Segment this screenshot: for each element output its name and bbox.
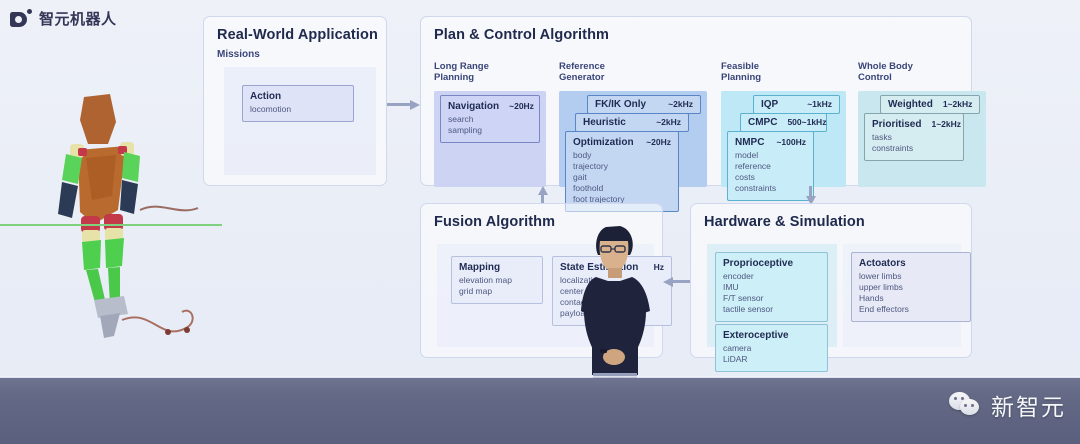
- box-heuristic: Heuristic ~2kHz: [575, 113, 689, 132]
- box-mapping-items: elevation map grid map: [459, 275, 535, 297]
- column-body-reference-generator: FK/IK Only ~2kHz Heuristic ~2kHz Optimiz…: [559, 91, 707, 187]
- list-item: foothold: [573, 183, 671, 194]
- robot-svg: [48, 92, 208, 342]
- panel-title-real-world: Real-World Application: [217, 27, 378, 43]
- list-item: Hands: [859, 293, 963, 304]
- hardware-sensors-container: Proprioceptive encoder IMU F/T sensor ta…: [707, 244, 837, 347]
- list-item: encoder: [723, 271, 820, 282]
- box-nmpc-name: NMPC: [735, 137, 764, 148]
- box-prioritised-name: Prioritised: [872, 119, 921, 130]
- box-navigation-items: search sampling: [448, 114, 532, 136]
- column-label-whole-body-control: Whole Body Control: [858, 61, 913, 83]
- box-action-name: Action: [250, 91, 281, 102]
- label-line-2: Planning: [434, 72, 489, 83]
- box-actuators: Actoators lower limbs upper limbs Hands …: [851, 252, 971, 322]
- box-proprioceptive-items: encoder IMU F/T sensor tactile sensor: [723, 271, 820, 315]
- list-item: gait: [573, 172, 671, 183]
- column-body-feasible-planning: IQP ~1kHz CMPC 500~1kHz NMPC ~100H: [721, 91, 846, 187]
- list-item: tactile sensor: [723, 304, 820, 315]
- box-prioritised-freq: 1~2kHz: [931, 119, 961, 129]
- brand-name: 智元机器人: [39, 8, 117, 29]
- box-proprioceptive-name: Proprioceptive: [723, 258, 793, 269]
- arrow-hardware-to-fusion-icon: [663, 277, 691, 287]
- column-body-whole-body-control: Weighted 1~2kHz Prioritised 1~2kHz tasks…: [858, 91, 986, 187]
- label-line-2: Generator: [559, 72, 605, 83]
- list-item: search: [448, 114, 532, 125]
- box-iqp-name: IQP: [761, 99, 778, 110]
- box-exteroceptive-name: Exteroceptive: [723, 330, 789, 341]
- list-item: constraints: [735, 183, 806, 194]
- stack-whole-body-control: Weighted 1~2kHz Prioritised 1~2kHz tasks…: [864, 95, 980, 165]
- box-nmpc: NMPC ~100Hz model reference costs constr…: [727, 131, 814, 201]
- list-item: trajectory: [573, 161, 671, 172]
- arrow-real-world-to-plan-icon: [387, 100, 420, 109]
- list-item: End effectors: [859, 304, 963, 315]
- box-mapping-name: Mapping: [459, 262, 500, 273]
- box-navigation: Navigation ~20Hz search sampling: [440, 95, 540, 143]
- box-fk-ik-only-name: FK/IK Only: [595, 99, 646, 110]
- label-line-1: Feasible: [721, 61, 761, 72]
- box-cmpc-name: CMPC: [748, 117, 777, 128]
- box-fk-ik-only-freq: ~2kHz: [668, 99, 693, 109]
- presentation-stage: 智元机器人 Real-World Application Missions Ac…: [0, 0, 1080, 444]
- box-action-items: locomotion: [250, 104, 346, 115]
- stack-reference-generator: FK/IK Only ~2kHz Heuristic ~2kHz Optimiz…: [565, 95, 701, 183]
- box-iqp: IQP ~1kHz: [753, 95, 840, 114]
- box-optimization-name: Optimization: [573, 137, 634, 148]
- list-item: reference: [735, 161, 806, 172]
- list-item: grid map: [459, 286, 535, 297]
- panel-plan-control-algorithm: Plan & Control Algorithm Long Range Plan…: [420, 16, 972, 186]
- box-nmpc-items: model reference costs constraints: [735, 150, 806, 194]
- arrow-fusion-to-plan-icon: [538, 186, 547, 204]
- box-prioritised-items: tasks constraints: [872, 132, 956, 154]
- list-item: IMU: [723, 282, 820, 293]
- hardware-actuators-container: Actoators lower limbs upper limbs Hands …: [843, 244, 961, 347]
- watermark-text: 新智元: [991, 388, 1066, 422]
- list-item: constraints: [872, 143, 956, 154]
- box-navigation-name: Navigation: [448, 101, 499, 112]
- box-exteroceptive: Exteroceptive camera LiDAR: [715, 324, 828, 372]
- arrow-plan-to-hardware-icon: [806, 186, 815, 204]
- label-line-1: Long Range: [434, 61, 489, 72]
- panel-title-hardware: Hardware & Simulation: [704, 214, 865, 230]
- panel-hardware-simulation: Hardware & Simulation Proprioceptive enc…: [690, 203, 972, 358]
- box-navigation-freq: ~20Hz: [509, 101, 534, 111]
- box-optimization-freq: ~20Hz: [646, 137, 671, 147]
- box-fk-ik-only: FK/IK Only ~2kHz: [587, 95, 701, 114]
- list-item: locomotion: [250, 104, 346, 115]
- list-item: F/T sensor: [723, 293, 820, 304]
- label-line-2: Control: [858, 72, 913, 83]
- column-label-reference-generator: Reference Generator: [559, 61, 605, 83]
- list-item: elevation map: [459, 275, 535, 286]
- column-label-feasible-planning: Feasible Planning: [721, 61, 761, 83]
- box-heuristic-freq: ~2kHz: [656, 117, 681, 127]
- agibot-logo-icon: [10, 9, 32, 29]
- box-weighted: Weighted 1~2kHz: [880, 95, 980, 114]
- list-item: lower limbs: [859, 271, 963, 282]
- box-proprioceptive: Proprioceptive encoder IMU F/T sensor ta…: [715, 252, 828, 322]
- brand-logo: 智元机器人: [10, 8, 117, 29]
- label-line-1: Whole Body: [858, 61, 913, 72]
- box-actuators-items: lower limbs upper limbs Hands End effect…: [859, 271, 963, 315]
- panel-title-plan-control: Plan & Control Algorithm: [434, 27, 609, 43]
- box-weighted-freq: 1~2kHz: [943, 99, 973, 109]
- robot-simulation-figure: [48, 92, 208, 342]
- list-item: camera: [723, 343, 820, 354]
- box-optimization: Optimization ~20Hz body trajectory gait …: [565, 131, 679, 212]
- list-item: costs: [735, 172, 806, 183]
- box-actuators-name: Actoators: [859, 258, 906, 269]
- list-item: sampling: [448, 125, 532, 136]
- column-label-long-range-planning: Long Range Planning: [434, 61, 489, 83]
- list-item: body: [573, 150, 671, 161]
- box-cmpc: CMPC 500~1kHz: [740, 113, 827, 132]
- list-item: LiDAR: [723, 354, 820, 365]
- watermark: 新智元: [949, 388, 1066, 422]
- box-prioritised: Prioritised 1~2kHz tasks constraints: [864, 113, 964, 161]
- box-exteroceptive-items: camera LiDAR: [723, 343, 820, 365]
- box-mapping: Mapping elevation map grid map: [451, 256, 543, 304]
- column-body-long-range-planning: Navigation ~20Hz search sampling: [434, 91, 546, 187]
- stack-feasible-planning: IQP ~1kHz CMPC 500~1kHz NMPC ~100H: [727, 95, 840, 183]
- box-weighted-name: Weighted: [888, 99, 933, 110]
- box-heuristic-name: Heuristic: [583, 117, 626, 128]
- label-line-1: Reference: [559, 61, 605, 72]
- wechat-icon: [949, 392, 983, 418]
- box-action: Action locomotion: [242, 85, 354, 122]
- label-line-2: Planning: [721, 72, 761, 83]
- panel-title-fusion: Fusion Algorithm: [434, 214, 555, 230]
- box-optimization-items: body trajectory gait foothold foot traje…: [573, 150, 671, 205]
- list-item: upper limbs: [859, 282, 963, 293]
- box-nmpc-freq: ~100Hz: [776, 137, 806, 147]
- box-iqp-freq: ~1kHz: [807, 99, 832, 109]
- green-guide-line: [0, 224, 222, 226]
- stage-floor: [0, 378, 1080, 444]
- list-item: tasks: [872, 132, 956, 143]
- panel-real-world-application: Real-World Application Missions Action l…: [203, 16, 387, 186]
- box-cmpc-freq: 500~1kHz: [787, 117, 826, 127]
- list-item: model: [735, 150, 806, 161]
- missions-container: Action locomotion: [224, 67, 376, 175]
- label-missions: Missions: [217, 49, 260, 60]
